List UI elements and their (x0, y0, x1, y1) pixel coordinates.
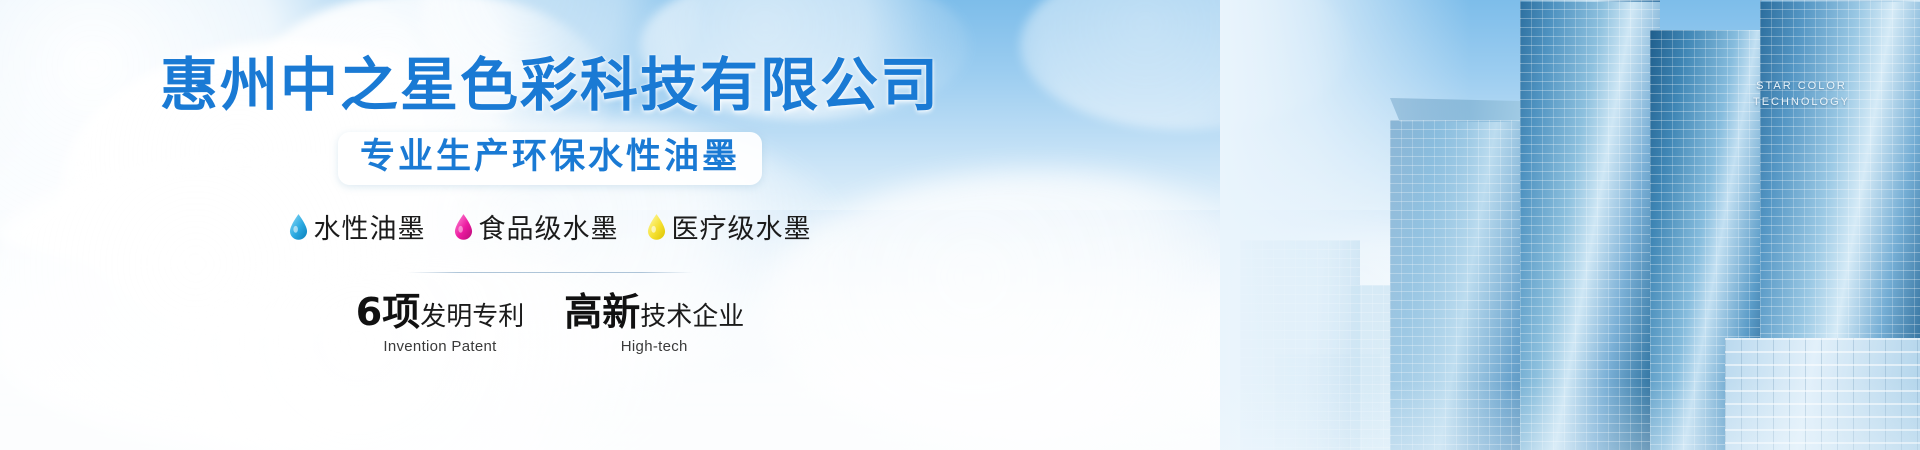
badge-suffix: 技术企业 (640, 302, 744, 332)
feature-label: 食品级水墨 (479, 207, 619, 246)
badge-english-text: Invention Patent (356, 338, 524, 355)
subtitle-text: 专业生产环保水性油墨 (360, 137, 740, 177)
city-skyline-photo (1220, 0, 1920, 450)
feature-item: 水性油墨 (289, 207, 426, 246)
brand-mark-line1: STAR COLOR (1753, 78, 1850, 94)
badge-chinese-text: 高新技术企业 (564, 293, 744, 331)
brand-mark: STAR COLOR TECHNOLOGY (1753, 78, 1850, 110)
badge-highlight: 高新 (564, 290, 640, 334)
feature-label: 医疗级水墨 (672, 207, 812, 246)
feature-list: 水性油墨 食品级水墨 (289, 207, 812, 246)
promo-banner: Star Color STAR COLOR TECHNOLOGY 惠州中之星色彩… (0, 0, 1920, 450)
section-divider (407, 272, 693, 273)
water-drop-icon (454, 213, 473, 240)
badge-invention-patent: 6项发明专利 Invention Patent (356, 293, 524, 355)
subtitle-pill: 专业生产环保水性油墨 (338, 132, 762, 185)
skyline-bottom-fade (1220, 380, 1920, 450)
company-title: 惠州中之星色彩科技有限公司 (160, 55, 940, 116)
feature-label: 水性油墨 (314, 207, 426, 246)
banner-content: 惠州中之星色彩科技有限公司 专业生产环保水性油墨 水性油墨 (0, 0, 1100, 450)
badge-chinese-text: 6项发明专利 (356, 293, 524, 331)
badge-highlight: 6项 (356, 290, 420, 334)
credential-badges: 6项发明专利 Invention Patent 高新技术企业 High-tech (356, 293, 745, 355)
water-drop-icon (647, 213, 666, 240)
feature-item: 食品级水墨 (454, 207, 619, 246)
badge-high-tech: 高新技术企业 High-tech (564, 293, 744, 355)
badge-suffix: 发明专利 (420, 302, 524, 332)
badge-english-text: High-tech (564, 338, 744, 355)
brand-mark-line2: TECHNOLOGY (1753, 94, 1850, 110)
water-drop-icon (289, 213, 308, 240)
feature-item: 医疗级水墨 (647, 207, 812, 246)
